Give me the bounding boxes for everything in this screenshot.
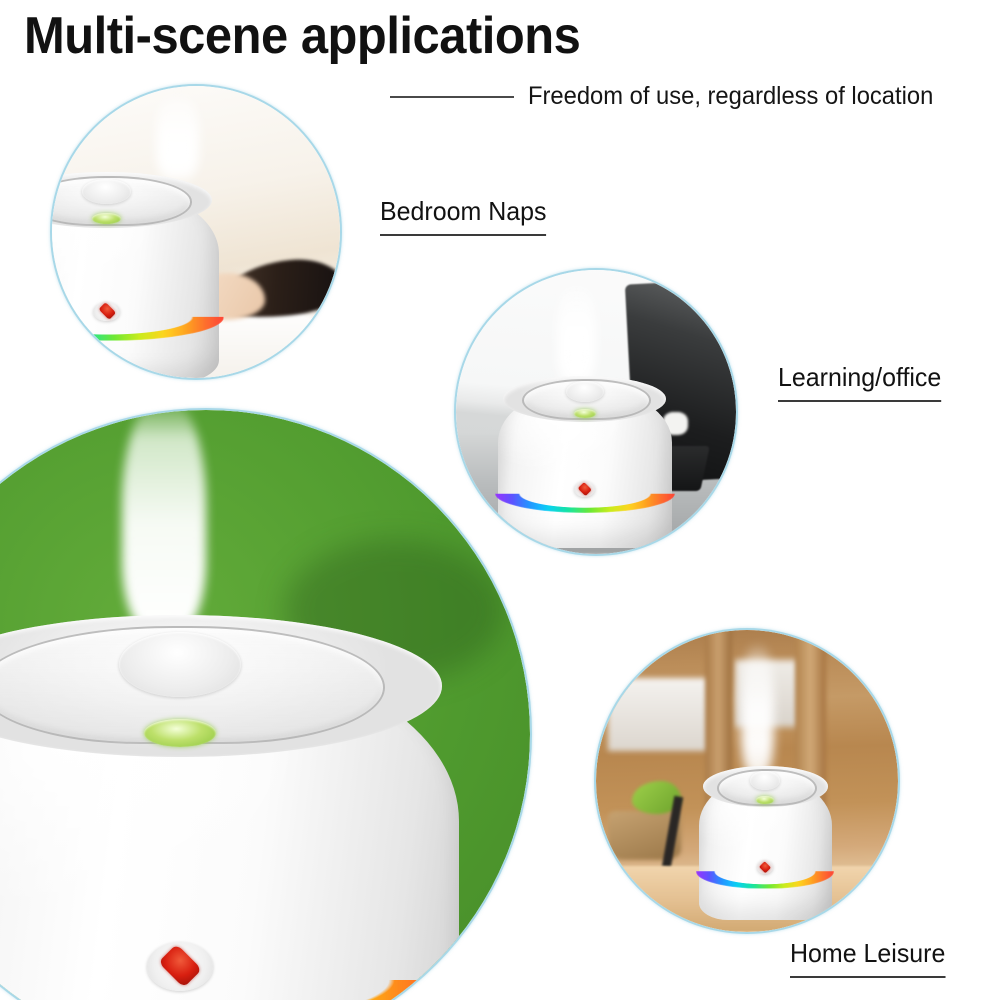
- page-title: Multi-scene applications: [24, 6, 580, 66]
- power-button[interactable]: [147, 942, 214, 991]
- mist-plume: [741, 642, 774, 775]
- mist-nozzle-icon: [566, 381, 604, 402]
- mist-plume: [557, 281, 596, 383]
- shelf-shape-left: [608, 678, 711, 750]
- subtitle-text: Freedom of use, regardless of location: [528, 82, 933, 111]
- mist-plume: [156, 92, 199, 180]
- scene-home-photo: [596, 630, 898, 932]
- mist-nozzle-icon: [750, 771, 779, 790]
- caption-bedroom-naps: Bedroom Naps: [380, 196, 546, 236]
- green-indicator-led-icon: [144, 719, 216, 747]
- humidifier-device: [699, 763, 832, 920]
- subtitle-rule: [390, 96, 514, 98]
- product-marketing-banner: Multi-scene applications Freedom of use,…: [0, 0, 1000, 1000]
- mist-nozzle-icon: [119, 632, 242, 697]
- caption-home-leisure: Home Leisure: [790, 938, 945, 978]
- green-indicator-led-icon: [756, 796, 773, 804]
- scene-home-circle: [596, 630, 898, 932]
- scene-bedroom-photo: [52, 86, 340, 378]
- scene-hero-circle: [0, 410, 530, 1000]
- scene-hero-photo: [0, 410, 530, 1000]
- caption-learning-office: Learning/office: [778, 362, 941, 402]
- mist-plume: [122, 410, 206, 630]
- humidifier-device: [52, 168, 219, 378]
- humidifier-device-hero: [0, 604, 459, 1000]
- subtitle-row: Freedom of use, regardless of location: [390, 82, 955, 111]
- scene-bedroom-circle: [52, 86, 340, 378]
